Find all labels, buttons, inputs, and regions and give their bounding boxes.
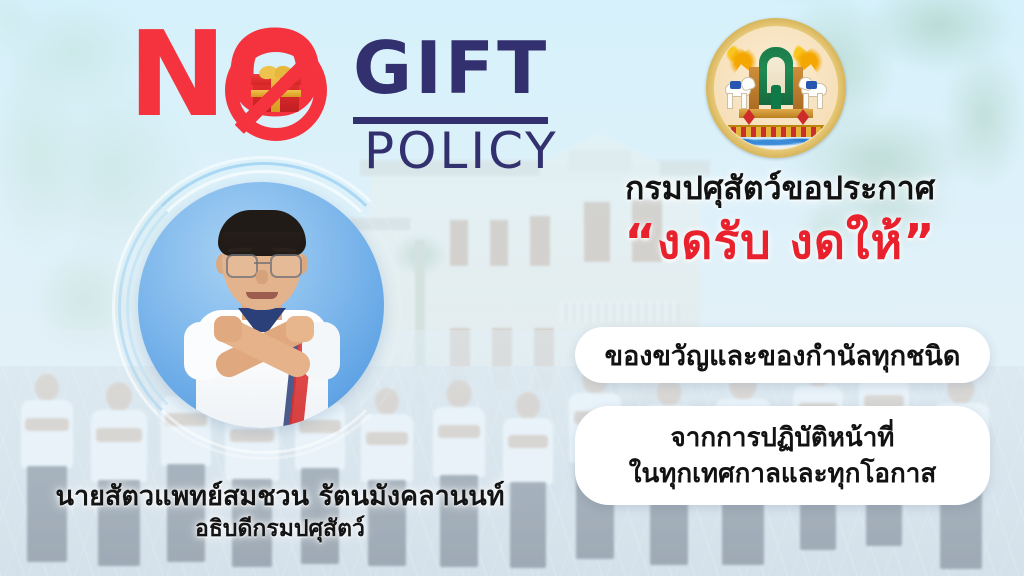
emblem-horse-right-icon bbox=[797, 75, 831, 109]
no-gift-policy-logo: NO GIFT POLICY bbox=[128, 18, 548, 170]
director-name: นายสัตวแพทย์สมชวน รัตนมังคลานนท์ bbox=[0, 480, 560, 514]
statement-pill-gifts: ของขวัญและของกำนัลทุกชนิด bbox=[575, 327, 990, 383]
announcement-heading: กรมปศุสัตว์ขอประกาศ bbox=[560, 168, 1000, 208]
emblem-horse-left-icon bbox=[721, 75, 755, 109]
statement-pill-duty-line1: จากการปฏิบัติหน้าที่ bbox=[671, 420, 895, 456]
statement-pill-gifts-text: ของขวัญและของกำนัลทุกชนิด bbox=[605, 334, 961, 377]
director-role: อธิบดีกรมปศุสัตว์ bbox=[0, 514, 560, 544]
dld-emblem-icon bbox=[706, 18, 846, 158]
no-gift-policy-poster: NO GIFT POLICY bbox=[0, 0, 1024, 576]
statement-pill-duty-line2: ในทุกเทศกาลและทุกโอกาส bbox=[629, 456, 936, 492]
emblem-water-motif bbox=[715, 137, 837, 149]
portrait-photo bbox=[138, 182, 384, 428]
director-portrait bbox=[116, 160, 406, 450]
eyeglasses-icon bbox=[226, 254, 258, 278]
logo-gift-text: GIFT bbox=[353, 32, 549, 104]
statement-pill-duty: จากการปฏิบัติหน้าที่ ในทุกเทศกาลและทุกโอ… bbox=[575, 406, 990, 505]
portrait-caption: นายสัตวแพทย์สมชวน รัตนมังคลานนท์ อธิบดีก… bbox=[0, 480, 560, 544]
slogan-heading: “งดรับ งดให้” bbox=[560, 212, 1000, 272]
